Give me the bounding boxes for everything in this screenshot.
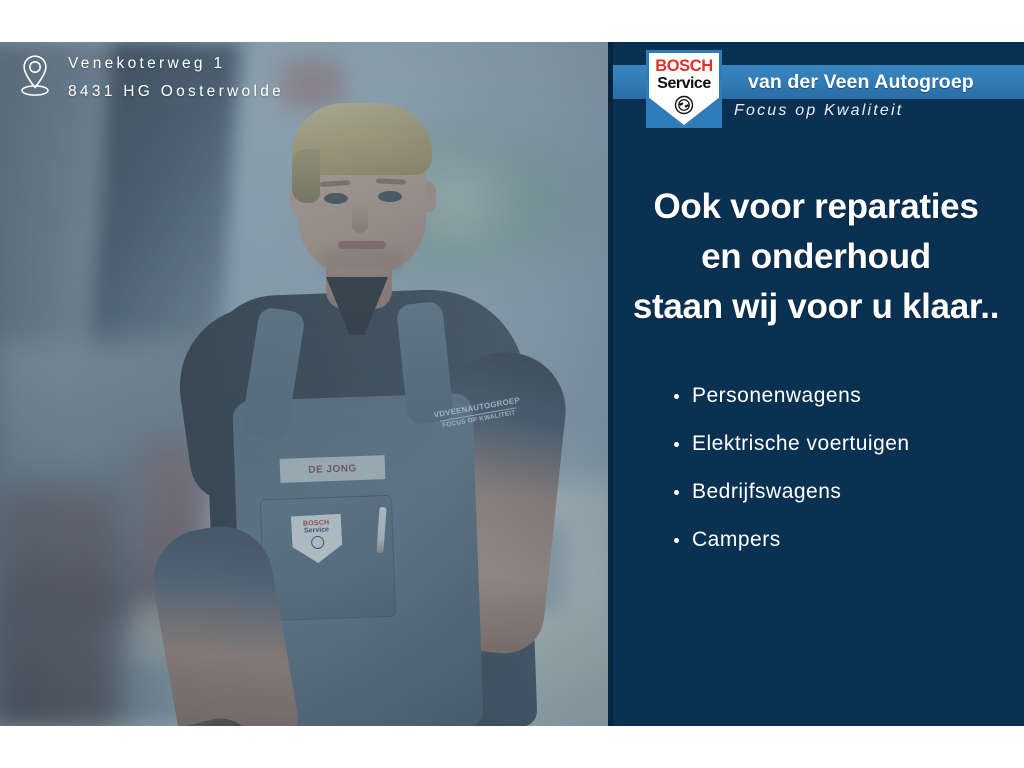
address-line-2: 8431 HG Oosterwolde	[68, 78, 284, 106]
photo-vignette	[0, 42, 608, 726]
panel-left-edge	[608, 42, 613, 726]
bosch-shield-shape: BOSCH Service	[649, 53, 719, 125]
bosch-service-logo: BOSCH Service	[646, 50, 722, 128]
headline-line-3: staan wij voor u klaar..	[608, 282, 1024, 332]
service-label: Elektrische voertuigen	[692, 420, 910, 468]
list-item: Elektrische voertuigen	[674, 420, 910, 468]
address-line-1: Venekoterweg 1	[68, 50, 284, 78]
list-item: Campers	[674, 516, 910, 564]
bosch-armature-icon	[674, 95, 694, 120]
list-item: Bedrijfswagens	[674, 468, 910, 516]
map-pin-icon	[18, 53, 52, 97]
service-label: Bedrijfswagens	[692, 468, 841, 516]
service-label: Campers	[692, 516, 781, 564]
bullet-dot-icon	[674, 442, 679, 447]
address-lines: Venekoterweg 1 8431 HG Oosterwolde	[68, 50, 284, 106]
address-block: Venekoterweg 1 8431 HG Oosterwolde	[18, 50, 284, 106]
info-panel: BOSCH Service van der Veen Autogroep Foc…	[608, 42, 1024, 726]
bullet-dot-icon	[674, 538, 679, 543]
list-item: Personenwagens	[674, 372, 910, 420]
mechanic-photo: DE JONG BOSCH Service VDVEENAUTOGROEP FO…	[0, 42, 608, 726]
service-label: Personenwagens	[692, 372, 861, 420]
headline: Ook voor reparaties en onderhoud staan w…	[608, 182, 1024, 332]
services-list: Personenwagens Elektrische voertuigen Be…	[674, 372, 910, 564]
brand-name: van der Veen Autogroep	[748, 66, 974, 98]
headline-line-1: Ook voor reparaties	[608, 182, 1024, 232]
headline-line-2: en onderhoud	[608, 232, 1024, 282]
brand-tagline: Focus op Kwaliteit	[734, 102, 903, 120]
bullet-dot-icon	[674, 490, 679, 495]
bosch-wordmark: BOSCH	[655, 58, 713, 75]
promo-banner: DE JONG BOSCH Service VDVEENAUTOGROEP FO…	[0, 42, 1024, 726]
bullet-dot-icon	[674, 394, 679, 399]
bosch-service-wordmark: Service	[657, 75, 710, 93]
